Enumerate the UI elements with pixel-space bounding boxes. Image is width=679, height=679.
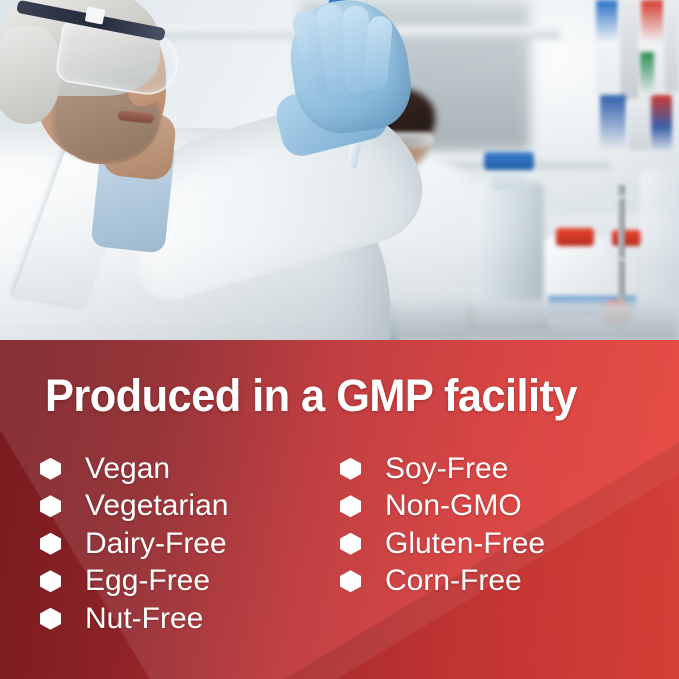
bottle-cap-blue	[484, 152, 534, 170]
list-item: Nut-Free	[40, 600, 228, 638]
hexagon-bullet-icon	[340, 458, 361, 480]
lab-stand-tubing	[600, 195, 650, 261]
list-item-label: Nut-Free	[85, 603, 203, 635]
lab-photo	[0, 0, 679, 341]
list-item: Gluten-Free	[340, 525, 545, 563]
shelf-box-red-2	[651, 95, 672, 153]
hexagon-bullet-icon	[40, 495, 61, 517]
shelf-box-green	[640, 52, 654, 94]
list-item-label: Soy-Free	[385, 453, 508, 485]
list-item-label: Vegan	[85, 453, 170, 485]
goggles-clip	[85, 6, 106, 24]
hexagon-bullet-icon	[40, 570, 61, 592]
claims-column-right: Soy-Free Non-GMO Gluten-Free Corn-Free	[340, 450, 545, 600]
hexagon-bullet-icon	[340, 570, 361, 592]
claims-column-left: Vegan Vegetarian Dairy-Free Egg-Free Nut…	[40, 450, 228, 638]
list-item: Soy-Free	[340, 450, 545, 488]
product-infographic-banner: Produced in a GMP facility Vegan Vegetar…	[0, 0, 679, 679]
shelf-box-grey	[664, 0, 679, 92]
list-item-label: Gluten-Free	[385, 528, 545, 560]
hexagon-bullet-icon	[40, 533, 61, 555]
hexagon-bullet-icon	[40, 458, 61, 480]
shelf-box-white	[620, 0, 639, 100]
list-item: Vegan	[40, 450, 228, 488]
hexagon-bullet-icon	[40, 608, 61, 630]
hexagon-bullet-icon	[340, 495, 361, 517]
list-item-label: Dairy-Free	[85, 528, 227, 560]
list-item-label: Vegetarian	[85, 490, 228, 522]
list-item-label: Corn-Free	[385, 565, 522, 597]
shelf-box-blue-2	[600, 95, 626, 150]
shelf-box-white-2	[628, 100, 650, 150]
list-item: Dairy-Free	[40, 525, 228, 563]
scientist-hair-side	[0, 26, 60, 124]
list-item-label: Non-GMO	[385, 490, 522, 522]
list-item: Vegetarian	[40, 488, 228, 526]
jug-cap-red	[556, 228, 594, 246]
page-title: Produced in a GMP facility	[45, 370, 624, 422]
list-item-label: Egg-Free	[85, 565, 210, 597]
hexagon-bullet-icon	[340, 533, 361, 555]
list-item: Corn-Free	[340, 563, 545, 601]
shelf-box-blue	[596, 0, 618, 95]
list-item: Non-GMO	[340, 488, 545, 526]
list-item: Egg-Free	[40, 563, 228, 601]
